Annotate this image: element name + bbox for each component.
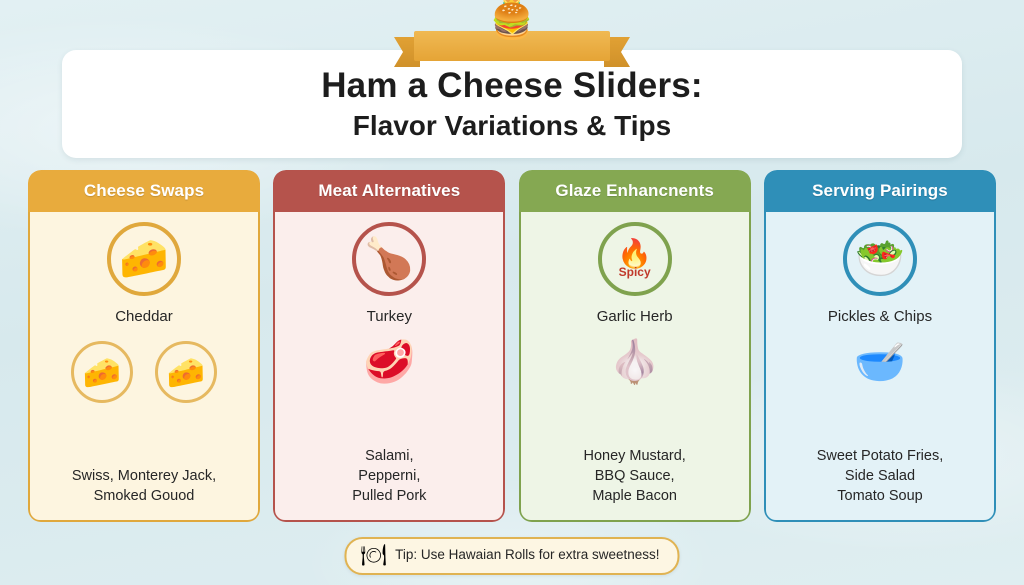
card-serving-pairings[interactable]: Serving Pairings 🥗 Pickles & Chips 🥣 Swe… bbox=[764, 170, 996, 522]
card-header-serving-pairings: Serving Pairings bbox=[764, 170, 996, 212]
card-body-glaze-enhancements: 🔥 Spicy Garlic Herb 🧄 Honey Mustard,BBQ … bbox=[519, 206, 751, 522]
card-list-text: Salami,Pepperni,Pulled Pork bbox=[352, 446, 426, 508]
swiss-cheese-glyph: 🧀 bbox=[83, 357, 122, 388]
title-card: Ham a Cheese Sliders: Flavor Variations … bbox=[62, 50, 962, 158]
ribbon-shape: 👑 🍔 bbox=[414, 31, 610, 61]
card-header-cheese-swaps: Cheese Swaps bbox=[28, 170, 260, 212]
card-meat-alternatives[interactable]: Meat Alternatives 🍗 Turkey 🥩 Salami,Pepp… bbox=[273, 170, 505, 522]
flame-glyph: 🔥 bbox=[617, 240, 652, 268]
card-body-cheese-swaps: 🧀 Cheddar 🧀 🧀 Swiss, Monterey Jack,Smoke… bbox=[28, 206, 260, 522]
card-list-text: Sweet Potato Fries,Side SaladTomato Soup bbox=[817, 446, 944, 508]
garlic-herb-icon: 🧄 bbox=[609, 341, 661, 383]
card-list-text: Honey Mustard,BBQ Sauce,Maple Bacon bbox=[583, 446, 685, 508]
cheese-slices-glyph: 🧀 bbox=[167, 357, 206, 388]
cards-row: Cheese Swaps 🧀 Cheddar 🧀 🧀 Swiss, Monter… bbox=[28, 170, 996, 522]
tip-banner: 🍽 Tip: Use Hawaian Rolls for extra sweet… bbox=[344, 537, 679, 575]
card-title: Glaze Enhancnents bbox=[555, 181, 714, 201]
spicy-label: Spicy bbox=[619, 266, 651, 278]
pickles-glyph: 🥗 bbox=[855, 239, 905, 279]
cheese-slices-icon: 🧀 bbox=[155, 341, 217, 403]
tip-text: Tip: Use Hawaian Rolls for extra sweetne… bbox=[395, 547, 659, 563]
turkey-slices-icon: 🍗 bbox=[352, 222, 426, 296]
page-title: Ham a Cheese Sliders: bbox=[321, 68, 703, 105]
chef-hat-icon: 🍽 bbox=[360, 545, 387, 566]
flame-spicy-icon: 🔥 Spicy bbox=[598, 222, 672, 296]
card-header-meat-alternatives: Meat Alternatives bbox=[273, 170, 505, 212]
card-body-serving-pairings: 🥗 Pickles & Chips 🥣 Sweet Potato Fries,S… bbox=[764, 206, 996, 522]
card-main-label: Turkey bbox=[367, 308, 412, 325]
card-list-text: Swiss, Monterey Jack,Smoked Gouod bbox=[72, 466, 216, 508]
cheese-wedge-icon: 🧀 bbox=[107, 222, 181, 296]
header-banner: 👑 🍔 bbox=[0, 4, 1024, 66]
secondary-icon-row: 🧀 🧀 bbox=[71, 341, 217, 403]
card-body-meat-alternatives: 🍗 Turkey 🥩 Salami,Pepperni,Pulled Pork bbox=[273, 206, 505, 522]
hamburger-icon: 🍔 bbox=[491, 5, 533, 39]
salami-rolls-icon: 🥩 bbox=[363, 341, 415, 383]
card-cheese-swaps[interactable]: Cheese Swaps 🧀 Cheddar 🧀 🧀 Swiss, Monter… bbox=[28, 170, 260, 522]
pickles-bowl-icon: 🥗 bbox=[843, 222, 917, 296]
card-main-label: Garlic Herb bbox=[597, 308, 673, 325]
page-subtitle: Flavor Variations & Tips bbox=[353, 111, 671, 140]
card-glaze-enhancements[interactable]: Glaze Enhancnents 🔥 Spicy Garlic Herb 🧄 … bbox=[519, 170, 751, 522]
card-title: Cheese Swaps bbox=[84, 181, 204, 201]
card-main-label: Cheddar bbox=[115, 308, 173, 325]
card-header-glaze-enhancements: Glaze Enhancnents bbox=[519, 170, 751, 212]
swiss-cheese-block-icon: 🧀 bbox=[71, 341, 133, 403]
coleslaw-bowl-icon: 🥣 bbox=[854, 341, 906, 383]
turkey-glyph: 🍗 bbox=[364, 239, 414, 279]
cheese-wedge-glyph: 🧀 bbox=[119, 239, 169, 279]
card-main-label: Pickles & Chips bbox=[828, 308, 932, 325]
card-title: Meat Alternatives bbox=[318, 181, 460, 201]
card-title: Serving Pairings bbox=[812, 181, 948, 201]
